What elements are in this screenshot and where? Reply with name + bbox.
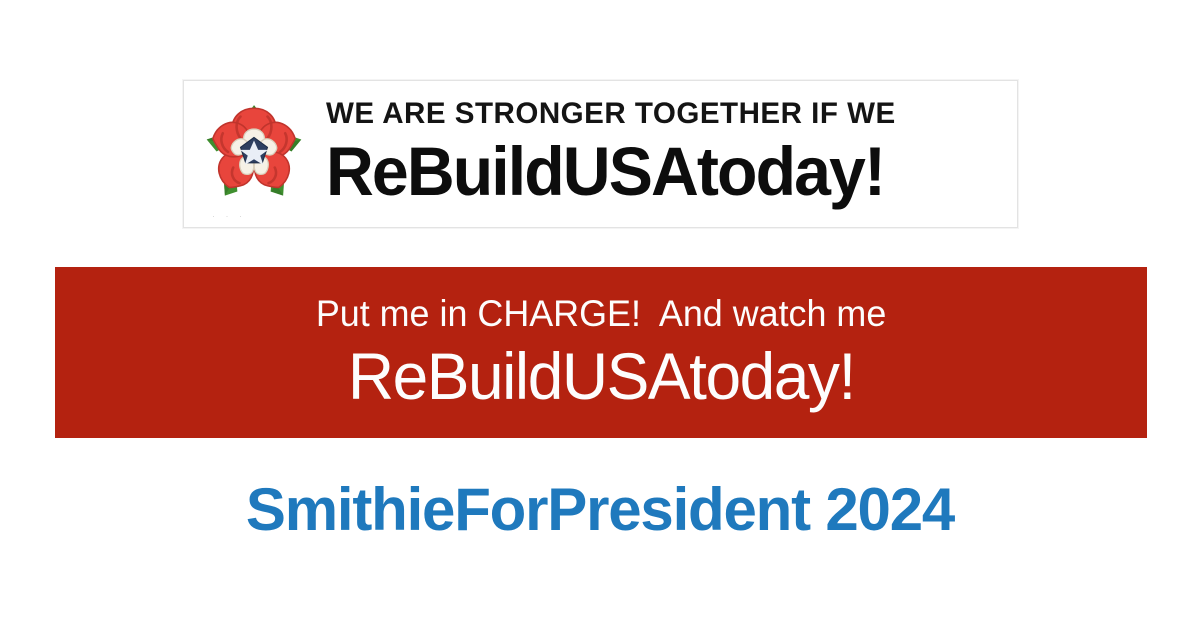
- sticker-corner-marks: · · ·: [212, 211, 246, 221]
- sticker-tagline: WE ARE STRONGER TOGETHER IF WE: [326, 91, 996, 131]
- bumper-sticker-card: WE ARE STRONGER TOGETHER IF WE ReBuildUS…: [183, 80, 1018, 228]
- bumper-sticker-text: WE ARE STRONGER TOGETHER IF WE ReBuildUS…: [326, 91, 1006, 211]
- red-banner: Put me in CHARGE! And watch me ReBuildUS…: [55, 267, 1147, 438]
- banner-slogan: ReBuildUSAtoday!: [348, 338, 855, 414]
- tudor-rose-icon: [202, 97, 306, 209]
- campaign-headline: SmithieForPresident 2024: [0, 477, 1200, 543]
- sticker-slogan: ReBuildUSAtoday!: [326, 133, 979, 211]
- banner-headline: Put me in CHARGE! And watch me: [316, 292, 886, 336]
